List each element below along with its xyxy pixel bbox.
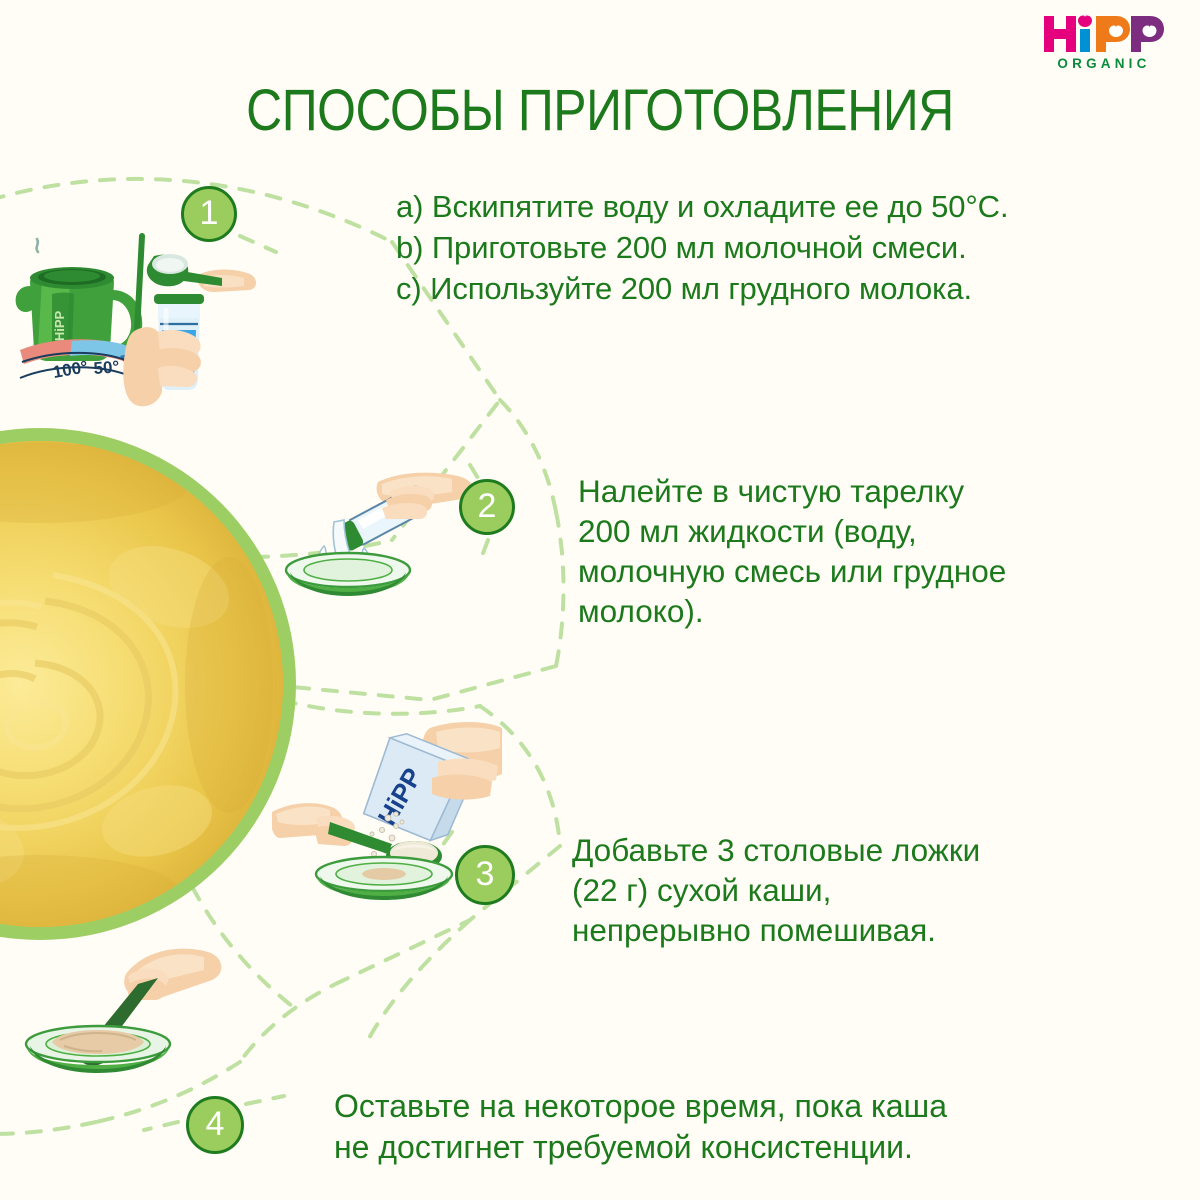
hipp-wordmark-icon: [1043, 12, 1165, 56]
hipp-organic-logo: ORGANIC: [1043, 12, 1165, 76]
svg-text:HiPP: HiPP: [52, 311, 67, 342]
porridge-swirl-texture: [0, 441, 283, 927]
preparation-instructions-page: ORGANIC СПОСОБЫ ПРИГОТОВЛЕНИЯ HiPP 100° …: [0, 0, 1200, 1200]
step-4-badge[interactable]: 4: [186, 1096, 244, 1154]
page-title: СПОСОБЫ ПРИГОТОВЛЕНИЯ: [84, 78, 1116, 144]
porridge-fill: [0, 441, 283, 927]
step-1-text: a) Вскипятите воду и охладите ее до 50°C…: [396, 186, 1196, 309]
step-2-badge[interactable]: 2: [459, 479, 515, 535]
step-4-text: Оставьте на некоторое время, пока каша н…: [334, 1086, 1134, 1168]
step-3-text: Добавьте 3 столовые ложки (22 г) сухой к…: [572, 830, 1172, 950]
porridge-bowl-photo: [0, 428, 296, 940]
kettle-and-bottle-illustration: HiPP 100° 50°: [8, 228, 258, 418]
stirring-porridge-illustration: [14, 940, 226, 1080]
pouring-liquid-into-bowl-illustration: [282, 470, 494, 598]
temp-50-label: 50°: [93, 357, 120, 378]
step-2-text: Налейте в чистую тарелку 200 мл жидкости…: [578, 471, 1178, 631]
logo-organic-label: ORGANIC: [1043, 56, 1165, 72]
step-1-badge[interactable]: 1: [181, 186, 237, 242]
step-3-badge[interactable]: 3: [455, 845, 515, 905]
